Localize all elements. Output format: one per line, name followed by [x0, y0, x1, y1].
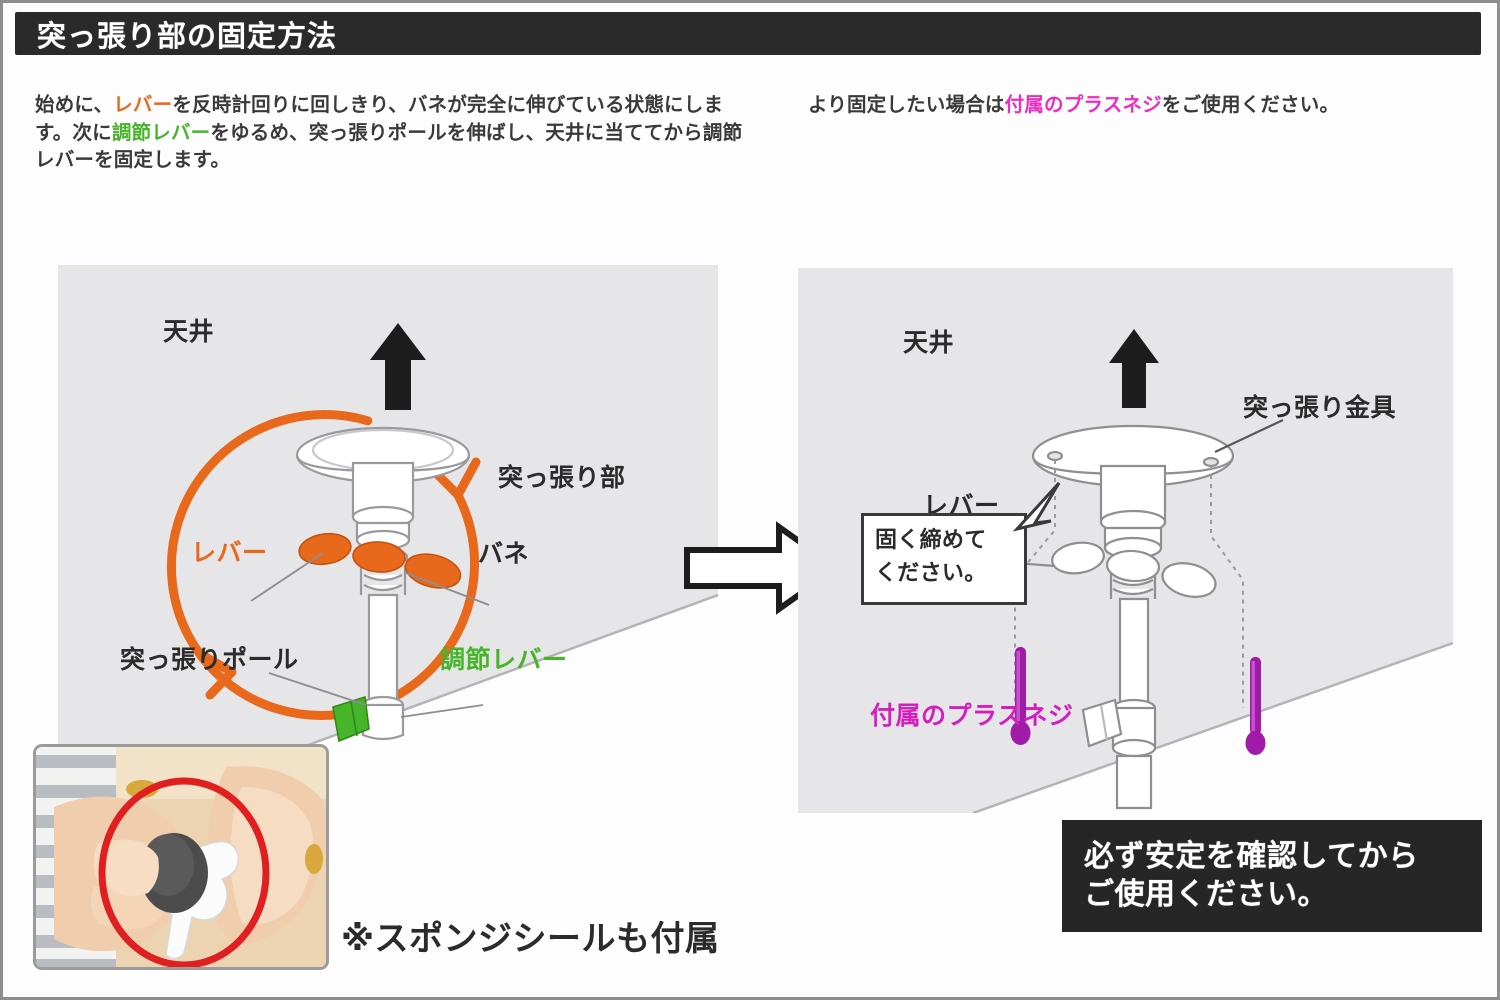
label-spring: バネ: [478, 534, 529, 570]
plus-screw-icon-right: [1238, 653, 1274, 763]
notice-line-2: ご使用ください。: [1084, 876, 1482, 914]
label-plus-screw: 付属のプラスネジ: [870, 696, 1074, 732]
speech-bubble-tail: [1015, 481, 1075, 541]
up-arrow-icon: [363, 320, 433, 410]
page-title: 突っ張り部の固定方法: [15, 13, 337, 55]
intro-left-adjust-lever-highlight: 調節レバー: [112, 121, 211, 144]
label-pole: 突っ張りポール: [120, 640, 299, 676]
label-metal-fitting: 突っ張り金具: [1243, 388, 1396, 424]
intro-paragraph-right: より固定したい場合は付属のプラスネジをご使用ください。: [808, 91, 1498, 119]
brace-assembly-illustration: [233, 405, 533, 745]
label-ceiling-left: 天井: [163, 312, 214, 348]
photo-ring-2: [305, 844, 323, 874]
label-brace-part: 突っ張り部: [498, 458, 626, 494]
bubble-line-1: 固く締めて: [864, 516, 1024, 556]
diagram-panel-before: 天井 突っ張り部 レバー バネ 突っ張りポール 調節レバー: [58, 265, 718, 745]
speech-bubble-tighten: 固く締めて ください。: [861, 513, 1027, 605]
intro-left-seg1: 始めに、: [35, 93, 113, 116]
infographic-page: 突っ張り部の固定方法 始めに、レバーを反時計回りに回しきり、バネが完全に伸びてい…: [0, 0, 1500, 1000]
intro-right-screw-highlight: 付属のプラスネジ: [1005, 93, 1162, 116]
bubble-line-2: ください。: [864, 556, 1024, 589]
intro-right-seg1: より固定したい場合は: [808, 93, 1005, 116]
label-ceiling-right: 天井: [903, 323, 954, 359]
notice-line-1: 必ず安定を確認してから: [1084, 838, 1482, 876]
sponge-seal-photo: [33, 744, 329, 970]
notice-banner: 必ず安定を確認してから ご使用ください。: [1062, 820, 1482, 932]
label-lever-left: レバー: [191, 533, 268, 569]
photo-thumb: [108, 842, 159, 896]
header-bar: 突っ張り部の固定方法: [15, 12, 1481, 55]
up-arrow-icon: [1103, 326, 1165, 408]
intro-paragraph-left: 始めに、レバーを反時計回りに回しきり、バネが完全に伸びている状態にします。次に調…: [35, 91, 755, 174]
intro-left-lever-highlight: レバー: [113, 93, 172, 116]
label-adjust-lever: 調節レバー: [440, 640, 568, 676]
photo-caption: ※スポンジシールも付属: [341, 911, 720, 960]
photo-content: [36, 747, 329, 970]
intro-right-seg3: をご使用ください。: [1162, 93, 1339, 116]
